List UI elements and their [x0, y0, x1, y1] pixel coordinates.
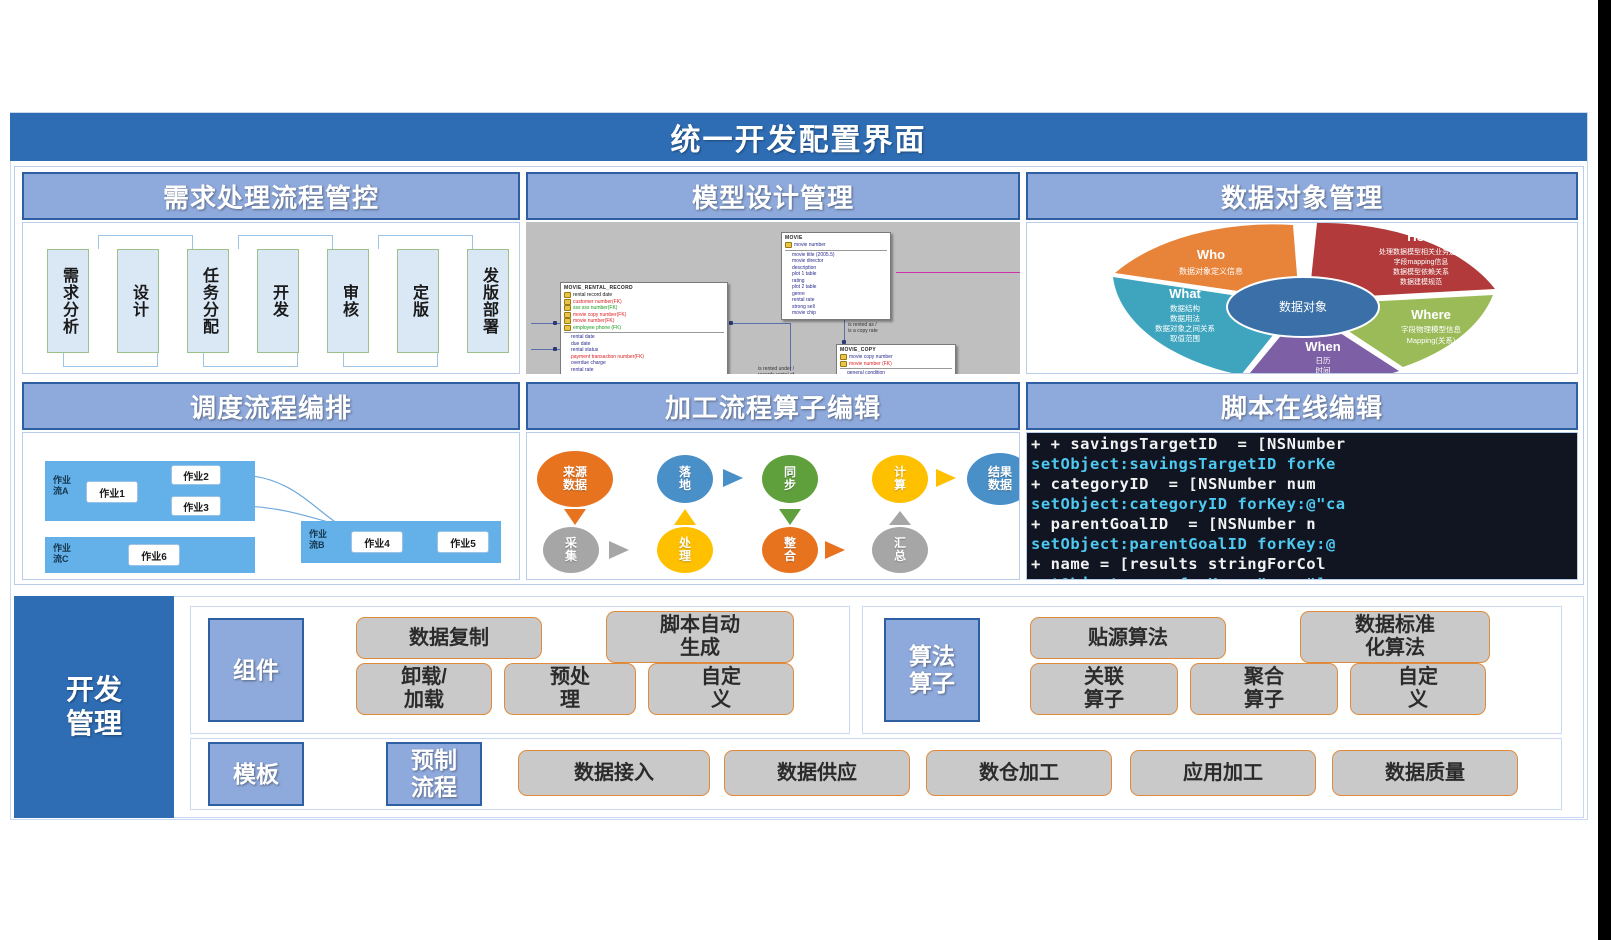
panel-title-model-design: 模型设计管理	[692, 178, 854, 215]
req-node-label: 定版	[410, 284, 426, 318]
category-preset-flow-label: 预制 流程	[411, 747, 457, 801]
pie-label-when-line: 日历	[1316, 356, 1332, 365]
panel-body-script[interactable]: + + savingsTargetID = [NSNumber setObjec…	[1026, 432, 1578, 580]
component-pill-data-copy[interactable]: 数据复制	[356, 617, 542, 659]
requirement-flow-diagram: 需求分析 设计 任务分配 开发 审核 定版 发版部署	[23, 223, 519, 373]
pie-label-how-line: 字段mapping信息	[1394, 257, 1449, 266]
pie-label-where-title: Where	[1411, 307, 1451, 322]
panel-header-operator[interactable]: 加工流程算子编辑	[526, 382, 1020, 430]
algorithm-pill-custom[interactable]: 自定 义	[1350, 663, 1486, 715]
panel-header-script[interactable]: 脚本在线编辑	[1026, 382, 1578, 430]
er-endpoint	[729, 321, 733, 325]
pie-label-how-line: 数据模型依赖关系	[1393, 267, 1449, 276]
arrow-right-icon	[723, 469, 743, 487]
arrow-down-icon	[779, 509, 801, 525]
er-field-list: movie title (2005.5) movie director desc…	[785, 252, 887, 317]
er-table-name: MOVIE_RENTAL_RECORD	[564, 285, 724, 291]
panel-title-requirement: 需求处理流程管控	[163, 178, 379, 215]
req-node-label: 设计	[130, 284, 146, 318]
pie-label-what-line: 数据对象之间关系	[1155, 323, 1215, 333]
template-pill-app-process[interactable]: 应用加工	[1130, 750, 1316, 796]
er-endpoint	[553, 321, 557, 325]
panel-header-data-object[interactable]: 数据对象管理	[1026, 172, 1578, 220]
req-node[interactable]: 开发	[257, 249, 299, 353]
arrow-right-icon	[609, 541, 629, 559]
operator-flow-diagram: 来源 数据 落 地 同 步 计 算 结果 数据 采 集 处 理 整 合 汇 总	[527, 433, 1019, 579]
template-pill-data-ingest[interactable]: 数据接入	[518, 750, 710, 796]
req-node-label: 需求分析	[60, 267, 76, 335]
job-node[interactable]: 作业4	[351, 531, 403, 553]
algorithm-pill-source-algo[interactable]: 贴源算法	[1030, 617, 1226, 659]
flow-link	[203, 353, 298, 367]
er-field-list: general condition movie format	[840, 370, 952, 374]
flow-link	[343, 353, 438, 367]
er-field: employee phone (FK)	[573, 325, 621, 332]
er-relation-line	[896, 272, 1020, 273]
category-components-label: 组件	[233, 657, 279, 684]
er-relation-label: is rented as / is a copy rate	[848, 322, 878, 334]
panel-title-operator: 加工流程算子编辑	[665, 388, 881, 425]
er-field: movie number (FK)	[849, 361, 892, 368]
pie-label-what-title: What	[1169, 286, 1201, 301]
panel-body-requirement: 需求分析 设计 任务分配 开发 审核 定版 发版部署	[22, 222, 520, 374]
er-field: movie number	[794, 242, 826, 249]
req-node-label: 开发	[270, 284, 286, 318]
component-pill-custom[interactable]: 自定 义	[648, 663, 794, 715]
flow-link	[238, 235, 333, 249]
algorithm-pill-relation[interactable]: 关联 算子	[1030, 663, 1178, 715]
req-node[interactable]: 任务分配	[187, 249, 229, 353]
req-node[interactable]: 审核	[327, 249, 369, 353]
code-line-8: setObject:name forKey:@"name"];	[1027, 573, 1577, 579]
panel-body-operator: 来源 数据 落 地 同 步 计 算 结果 数据 采 集 处 理 整 合 汇 总	[526, 432, 1020, 580]
pie-center-label: 数据对象	[1279, 299, 1327, 314]
er-diagram: MOVIE_RENTAL_RECORD rental record date c…	[526, 222, 1020, 374]
pie-label-how-title: How	[1407, 229, 1435, 244]
code-line-7: + name = [results stringForCol	[1027, 553, 1577, 573]
category-template[interactable]: 模板	[208, 742, 304, 806]
panel-header-model-design[interactable]: 模型设计管理	[526, 172, 1020, 220]
arrow-right-icon	[825, 541, 845, 559]
category-preset-flow[interactable]: 预制 流程	[386, 742, 482, 806]
req-node[interactable]: 需求分析	[47, 249, 89, 353]
panel-title-script: 脚本在线编辑	[1221, 388, 1383, 425]
er-field: movie chip	[792, 310, 816, 317]
pie-label-how-line: 处理数据模型相关业务逻辑	[1379, 247, 1463, 256]
schedule-flow-diagram: 作业 流A 作业1 作业2 作业3 作业 流B 作业4 作业5 作业 流C 作业…	[23, 433, 519, 579]
pie-svg: 数据对象 Who 数据对象定义信息 How 处理数据模型相关业务逻辑 字段map…	[1027, 223, 1578, 374]
er-table-movie-rental-record[interactable]: MOVIE_RENTAL_RECORD rental record date c…	[560, 282, 728, 374]
pie-label-who-title: Who	[1197, 247, 1225, 262]
req-node[interactable]: 发版部署	[467, 249, 509, 353]
category-algorithms-label: 算法 算子	[909, 643, 955, 697]
panel-header-requirement[interactable]: 需求处理流程管控	[22, 172, 520, 220]
pie-label-who-line: 数据对象定义信息	[1179, 266, 1243, 276]
page-title: 统一开发配置界面	[671, 115, 927, 159]
lane-b-label: 作业 流B	[309, 529, 327, 551]
panel-body-schedule: 作业 流A 作业1 作业2 作业3 作业 流B 作业4 作业5 作业 流C 作业…	[22, 432, 520, 580]
pie-label-when-line: 时间	[1316, 365, 1331, 374]
pie-label-where-line: 字段物理模型信息	[1401, 324, 1461, 334]
job-node[interactable]: 作业5	[437, 531, 489, 553]
category-components[interactable]: 组件	[208, 618, 304, 722]
panel-body-data-object: 数据对象 Who 数据对象定义信息 How 处理数据模型相关业务逻辑 字段map…	[1026, 222, 1578, 374]
arrow-up-icon	[674, 509, 696, 525]
operator-node-compute[interactable]: 计 算	[872, 455, 928, 503]
code-line-6: setObject:parentGoalID forKey:@	[1027, 533, 1577, 553]
er-relation-line	[790, 323, 791, 371]
category-algorithms[interactable]: 算法 算子	[884, 618, 980, 722]
pie-label-what-line: 取值范围	[1170, 333, 1200, 343]
er-endpoint	[553, 347, 557, 351]
er-table-name: MOVIE_COPY	[840, 347, 952, 353]
er-key-list: movie copy number movie number (FK)	[840, 354, 952, 369]
pie-label-when-title: When	[1305, 339, 1340, 354]
pie-label-what-line: 数据用法	[1170, 313, 1200, 323]
page-title-bar: 统一开发配置界面	[10, 113, 1587, 161]
component-pill-unload-load[interactable]: 卸载/ 加载	[356, 663, 492, 715]
operator-node-merge[interactable]: 整 合	[762, 527, 818, 573]
component-pill-preprocess[interactable]: 预处 理	[504, 663, 636, 715]
pie-label-where-line: Mapping(关系)	[1407, 335, 1456, 345]
slide-canvas: 统一开发配置界面 需求处理流程管控 模型设计管理 数据对象管理 需求分析 设计 …	[0, 0, 1611, 940]
operator-node-sync[interactable]: 同 步	[762, 455, 818, 503]
template-pill-data-supply[interactable]: 数据供应	[724, 750, 910, 796]
code-line-4: setObject:categoryID forKey:@"ca	[1027, 493, 1577, 513]
lane-a-label: 作业 流A	[53, 475, 71, 497]
req-node[interactable]: 设计	[117, 249, 159, 353]
template-pill-warehouse[interactable]: 数仓加工	[926, 750, 1112, 796]
operator-node-process[interactable]: 处 理	[657, 527, 713, 573]
panel-body-model-design: MOVIE_RENTAL_RECORD rental record date c…	[526, 222, 1020, 374]
operator-node-result[interactable]: 结果 数据	[967, 453, 1020, 505]
er-relation-label: is rented under / records rental of	[758, 366, 794, 374]
arrow-up-icon	[889, 511, 911, 525]
req-node-label: 任务分配	[200, 267, 216, 335]
er-field: rental rate	[571, 367, 594, 374]
right-edge-bar	[1598, 0, 1611, 940]
job-node[interactable]: 作业1	[86, 481, 138, 503]
pie-label-what-line: 数据结构	[1170, 303, 1200, 313]
template-pill-data-quality[interactable]: 数据质量	[1332, 750, 1518, 796]
algorithm-pill-aggregate[interactable]: 聚合 算子	[1190, 663, 1338, 715]
arrow-down-icon	[564, 509, 586, 525]
er-key-list: movie number	[785, 242, 887, 251]
panel-header-schedule[interactable]: 调度流程编排	[22, 382, 520, 430]
code-line-3: + categoryID = [NSNumber num	[1027, 473, 1577, 493]
algorithm-pill-standardization[interactable]: 数据标准 化算法	[1300, 611, 1490, 663]
job-node[interactable]: 作业6	[128, 544, 180, 566]
code-line-5: + parentGoalID = [NSNumber n	[1027, 513, 1577, 533]
er-table-name: MOVIE	[785, 235, 887, 241]
req-node-label: 发版部署	[480, 267, 496, 335]
component-pill-script-auto-gen[interactable]: 脚本自动 生成	[606, 611, 794, 663]
job-node[interactable]: 作业2	[171, 465, 221, 485]
er-table-movie[interactable]: MOVIE movie number movie title (2005.5) …	[781, 232, 891, 320]
flow-link	[98, 235, 193, 249]
flow-link	[63, 353, 158, 367]
operator-node-source[interactable]: 来源 数据	[537, 451, 613, 507]
er-field-list: rental date due date rental status payme…	[564, 334, 724, 373]
panel-title-data-object: 数据对象管理	[1221, 178, 1383, 215]
operator-node-summary[interactable]: 汇 总	[872, 527, 928, 573]
dev-management-sidebar[interactable]: 开发 管理	[14, 596, 174, 818]
lane-c-label: 作业 流C	[53, 543, 71, 565]
operator-node-landing[interactable]: 落 地	[657, 455, 713, 503]
operator-node-collect[interactable]: 采 集	[543, 527, 599, 573]
req-node[interactable]: 定版	[397, 249, 439, 353]
flow-link	[378, 235, 473, 249]
er-field: general condition	[847, 370, 885, 374]
pie-label-how-line: 数据建模规范	[1400, 277, 1442, 286]
er-relation-line	[731, 323, 791, 324]
er-key-list: rental record date customer number(FK) s…	[564, 292, 724, 333]
dev-management-label: 开发 管理	[66, 673, 122, 741]
er-table-movie-copy[interactable]: MOVIE_COPY movie copy number movie numbe…	[836, 344, 956, 374]
panel-title-schedule: 调度流程编排	[190, 388, 352, 425]
data-object-pie-chart: 数据对象 Who 数据对象定义信息 How 处理数据模型相关业务逻辑 字段map…	[1027, 223, 1577, 373]
lane-a[interactable]: 作业 流A	[45, 461, 255, 521]
code-editor[interactable]: + + savingsTargetID = [NSNumber setObjec…	[1027, 433, 1577, 579]
category-template-label: 模板	[233, 761, 279, 788]
req-node-label: 审核	[340, 284, 356, 318]
arrow-right-icon	[936, 469, 956, 487]
job-node[interactable]: 作业3	[171, 496, 221, 516]
